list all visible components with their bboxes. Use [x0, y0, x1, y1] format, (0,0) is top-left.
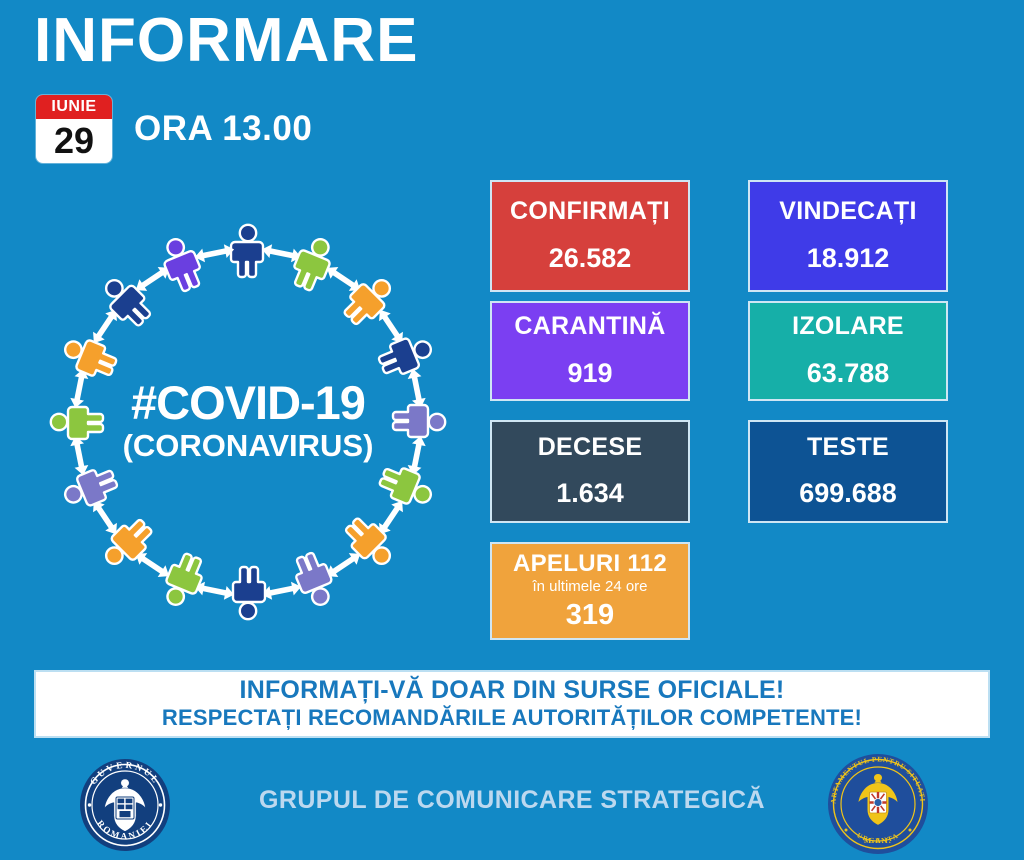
- stat-value: 26.582: [549, 244, 632, 274]
- person-figure: [159, 550, 209, 610]
- person-figure: [375, 331, 435, 381]
- stat-card-apeluri-112[interactable]: APELURI 112 în ultimele 24 ore 319: [490, 542, 690, 640]
- banner-line-1: INFORMAȚI-VĂ DOAR DIN SURSE OFICIALE!: [240, 676, 785, 705]
- stat-value: 319: [566, 600, 614, 632]
- person-figure: [51, 407, 103, 439]
- figure-ring: [51, 225, 445, 619]
- person-figure: [233, 567, 265, 619]
- person-figure: [376, 462, 436, 512]
- stat-label: CONFIRMAȚI: [510, 198, 670, 226]
- dsu-mai-seal-icon: DEPARTAMENTUL PENTRU SITUATII DE URGENTA…: [826, 752, 930, 856]
- person-figure: [59, 333, 119, 383]
- distance-arrow-icon: [406, 367, 428, 409]
- dsu-mai-text: M.A.I.: [864, 836, 892, 845]
- stat-value: 63.788: [807, 359, 890, 389]
- stat-card-vindecati[interactable]: VINDECAȚI 18.912: [748, 180, 948, 292]
- person-figure: [288, 233, 338, 293]
- circle-figures-svg: [38, 212, 458, 632]
- person-figure: [393, 405, 445, 437]
- stat-label: DECESE: [538, 434, 643, 462]
- stat-label: IZOLARE: [792, 313, 904, 341]
- calendar-icon: IUNIE 29: [36, 95, 112, 163]
- stat-card-izolare[interactable]: IZOLARE 63.788: [748, 301, 948, 401]
- stat-value: 18.912: [807, 244, 890, 274]
- social-distancing-circle-illustration: #COVID-19 (CORONAVIRUS): [38, 212, 458, 632]
- stat-label: CARANTINĂ: [514, 313, 665, 341]
- time-label: ORA 13.00: [134, 109, 312, 149]
- banner-line-2: RESPECTAȚI RECOMANDĂRILE AUTORITĂȚILOR C…: [162, 705, 862, 731]
- stat-value: 919: [567, 359, 612, 389]
- stat-sublabel: în ultimele 24 ore: [532, 579, 647, 596]
- stat-card-teste[interactable]: TESTE 699.688: [748, 420, 948, 523]
- distance-arrow-icon: [69, 435, 91, 477]
- stat-label: TESTE: [807, 434, 889, 462]
- stat-card-confirmati[interactable]: CONFIRMAȚI 26.582: [490, 180, 690, 292]
- date-time-row: IUNIE 29 ORA 13.00: [36, 95, 312, 163]
- person-figure: [290, 549, 340, 609]
- distance-arrow-icon: [261, 580, 303, 602]
- stat-label: VINDECAȚI: [779, 198, 916, 226]
- stat-card-decese[interactable]: DECESE 1.634: [490, 420, 690, 523]
- official-sources-banner: INFORMAȚI-VĂ DOAR DIN SURSE OFICIALE! RE…: [34, 670, 990, 738]
- covid-information-poster: INFORMARE IUNIE 29 ORA 13.00: [0, 0, 1024, 860]
- page-title: INFORMARE: [34, 10, 418, 72]
- stat-value: 699.688: [799, 479, 897, 509]
- stat-value: 1.634: [556, 479, 624, 509]
- calendar-day: 29: [36, 119, 112, 163]
- person-figure: [60, 464, 120, 514]
- stat-label: APELURI 112: [513, 551, 667, 577]
- stat-card-carantina[interactable]: CARANTINĂ 919: [490, 301, 690, 401]
- dsu-mai-logo: DEPARTAMENTUL PENTRU SITUATII DE URGENTA…: [826, 752, 930, 856]
- person-figure: [157, 234, 207, 294]
- person-figure: [231, 225, 263, 277]
- distance-arrow-icon: [193, 243, 235, 265]
- calendar-month: IUNIE: [36, 95, 112, 119]
